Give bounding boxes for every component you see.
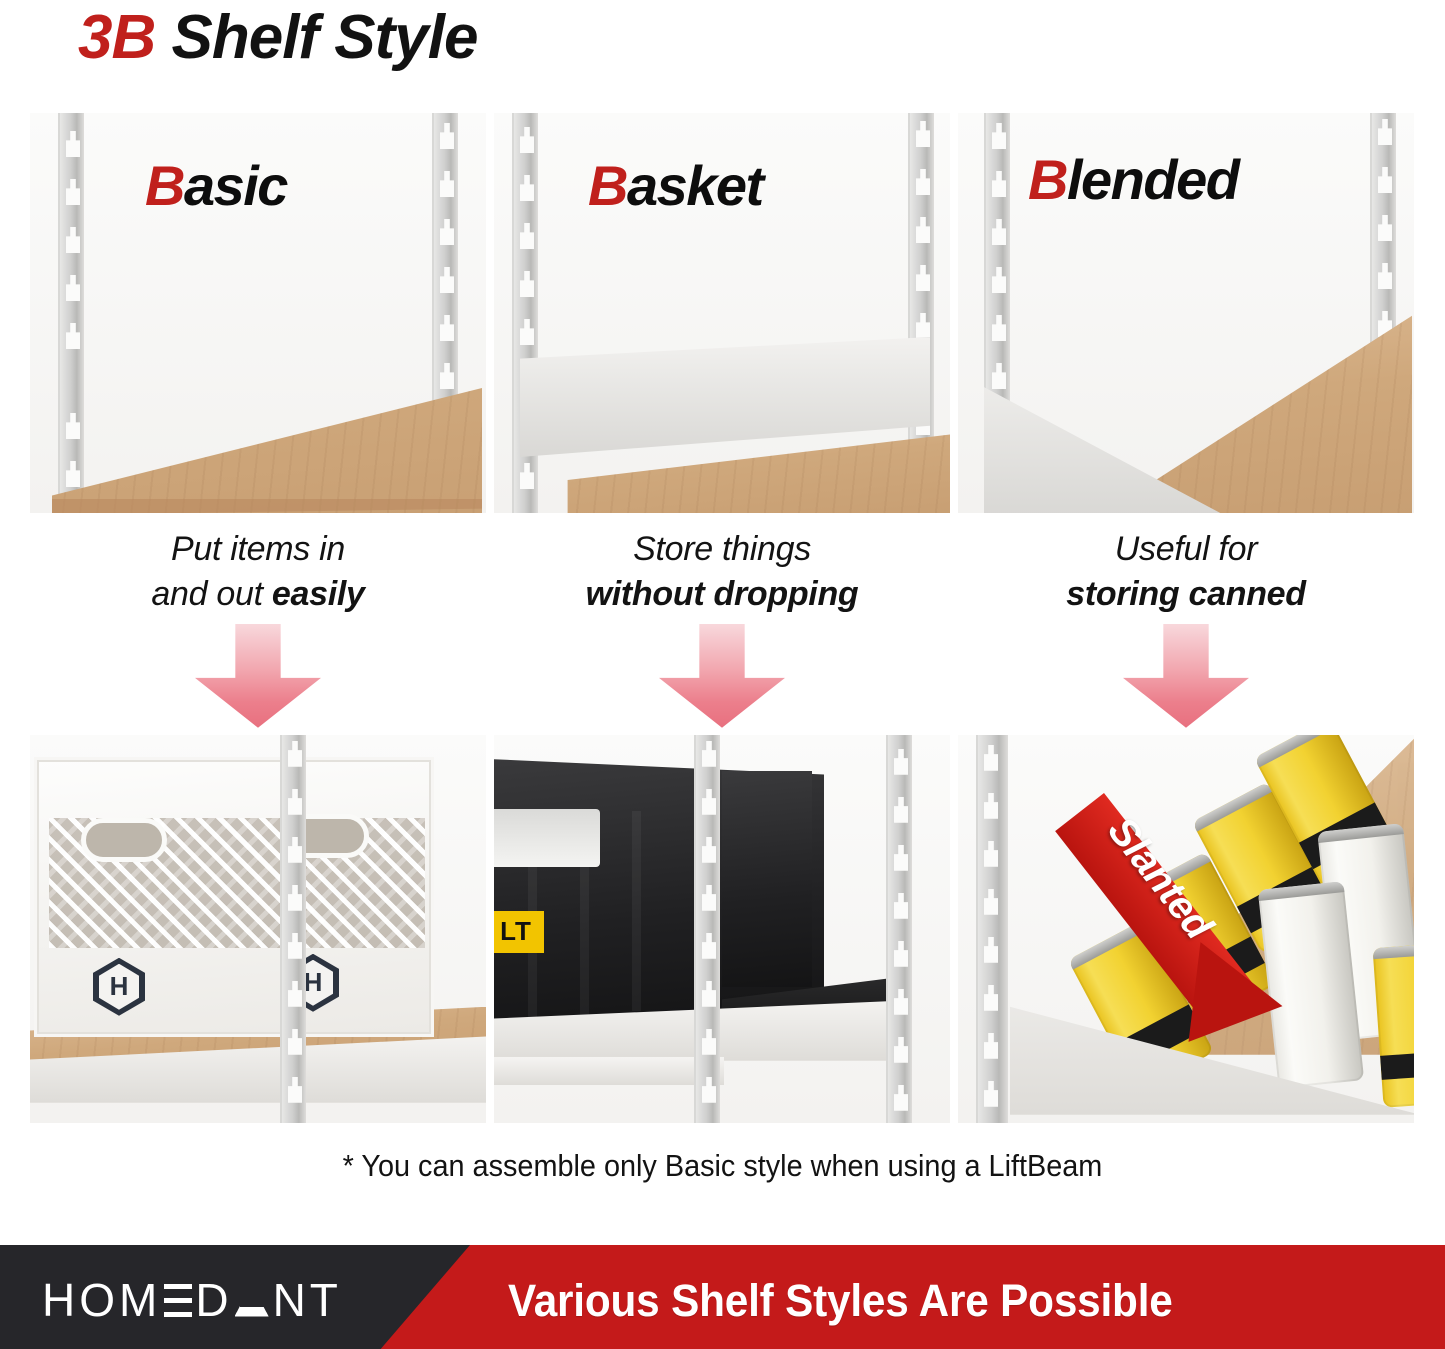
shelf-post-back-icon (886, 735, 912, 1123)
shelf-post-left-icon (976, 735, 1008, 1123)
style-initial: B (588, 154, 627, 217)
brand-logo: HOM D NT (42, 1273, 342, 1327)
caption-bold: without dropping (586, 575, 859, 613)
down-arrow-icon (659, 624, 785, 728)
style-columns: Basic Put items in and out easily (30, 113, 1415, 1123)
blended-usage-photo: Slanted (958, 735, 1414, 1123)
basic-shelf-photo: Basic (30, 113, 486, 513)
basic-usage-photo: H H (30, 735, 486, 1123)
column-basic: Basic Put items in and out easily (30, 113, 486, 1123)
column-basket: Basket Store things without dropping (494, 113, 950, 1123)
page-title: 3B Shelf Style (78, 2, 478, 73)
down-arrow-icon (1123, 624, 1249, 728)
milk-crate: H H (34, 757, 434, 1037)
style-initial: B (1028, 148, 1067, 211)
shelf-beam-lower (494, 1057, 724, 1085)
style-label-basic: Basic (145, 153, 287, 218)
tool-box-rear (722, 771, 812, 987)
caption-bold: easily (272, 575, 365, 613)
basket-shelf-photo: Basket (494, 113, 950, 513)
brand-e-glyph-icon (164, 1284, 192, 1317)
footnote: * You can assemble only Basic style when… (51, 1148, 1395, 1184)
style-label-blended: Blended (1028, 147, 1238, 212)
caption-basic: Put items in and out easily (30, 527, 486, 617)
page-title-accent: 3B (78, 3, 155, 72)
caption-blended: Useful for storing canned (958, 527, 1414, 617)
caption-normal: and out (151, 575, 272, 613)
arrow-slot-basket (494, 617, 950, 735)
blended-shelf-photo: Blended (958, 113, 1414, 513)
shelf-post-front-icon (694, 735, 720, 1123)
crate-logo-letter: H (304, 967, 323, 998)
style-rest: asket (627, 154, 763, 217)
footer-tagline: Various Shelf Styles Are Possible (508, 1275, 1173, 1327)
caption-line-1: Store things (494, 527, 950, 572)
column-blended: Blended Useful for storing canned (958, 113, 1414, 1123)
style-label-basket: Basket (588, 153, 763, 218)
style-rest: asic (184, 154, 287, 217)
down-arrow-icon (195, 624, 321, 728)
arrow-slot-blended (958, 617, 1414, 735)
caption-basket: Store things without dropping (494, 527, 950, 617)
caption-line-1: Useful for (958, 527, 1414, 572)
crate-handle (81, 818, 167, 862)
shelf-post-left-icon (58, 113, 84, 513)
caption-line-1: Put items in (30, 527, 486, 572)
arrow-slot-basic (30, 617, 486, 735)
toolbox-brand-label: LT (500, 916, 532, 947)
style-rest: lended (1067, 148, 1238, 211)
metal-tray (494, 809, 600, 867)
page-title-main: Shelf Style (172, 3, 478, 72)
shelf-post-front-icon (280, 735, 306, 1123)
brand-part-3: NT (273, 1273, 342, 1327)
style-initial: B (145, 154, 184, 217)
crate-brand-logo: H (93, 958, 145, 1016)
infographic-page: 3B Shelf Style (0, 0, 1445, 1349)
caption-line-2: and out easily (30, 572, 486, 617)
brand-a-triangle-icon (235, 1284, 269, 1317)
caption-line-2: storing canned (958, 572, 1414, 617)
footer-bar: HOM D NT Various Shelf Styles Are Possib… (0, 1245, 1445, 1349)
caption-bold: storing canned (1066, 575, 1306, 613)
crate-logo-letter: H (110, 971, 129, 1002)
caption-line-2: without dropping (494, 572, 950, 617)
toolbox-brand-badge: LT (494, 911, 544, 953)
brand-part-1: HOM (42, 1273, 161, 1327)
basket-usage-photo: LT (494, 735, 950, 1123)
brand-part-2: D (195, 1273, 232, 1327)
